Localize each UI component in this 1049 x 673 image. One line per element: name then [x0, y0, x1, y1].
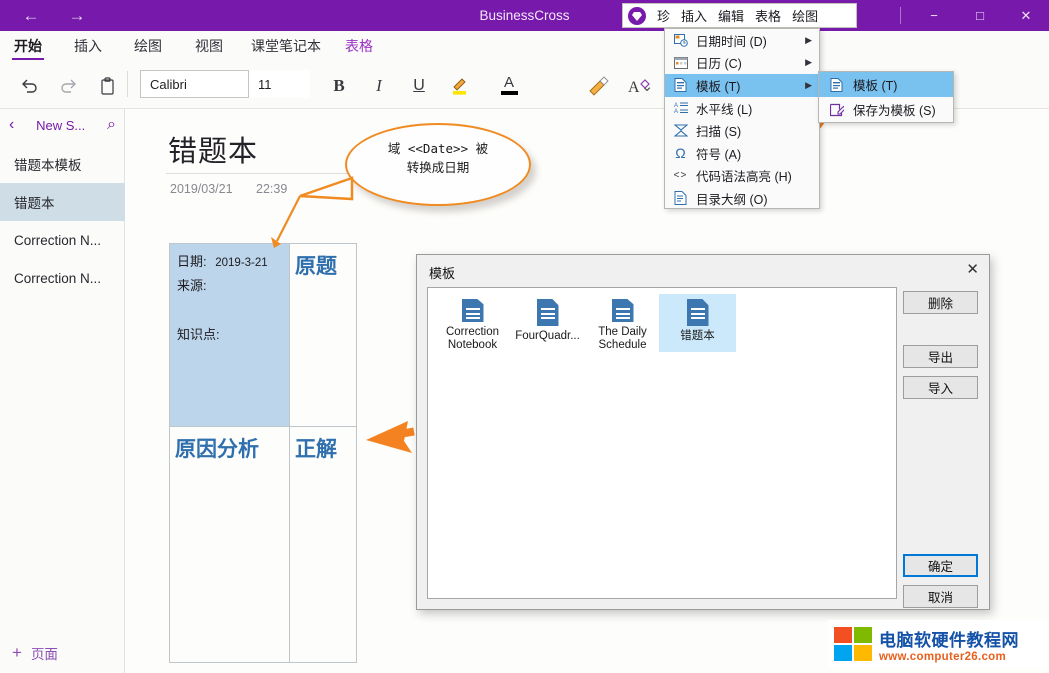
document-icon: [537, 299, 559, 326]
menu-item-label: 日期时间 (D): [696, 31, 767, 50]
undo-button[interactable]: [12, 62, 48, 109]
search-icon[interactable]: ⌕: [107, 116, 116, 134]
page-title[interactable]: 错题本: [168, 128, 258, 170]
menu-item-code-highlight[interactable]: <> 代码语法高亮 (H): [665, 165, 819, 188]
submenu-item-label: 模板 (T): [853, 75, 897, 94]
menu-item-outline[interactable]: 目录大纲 (O): [665, 187, 819, 210]
cell-heading-analysis: 原因分析: [170, 427, 289, 463]
document-icon: [462, 299, 484, 322]
titlebar-divider: [900, 7, 901, 24]
windows-logo-icon: [834, 627, 872, 661]
menu-item-label: 目录大纲 (O): [696, 189, 768, 208]
page-date[interactable]: 2019/03/21: [170, 182, 233, 196]
ok-button[interactable]: 确定: [903, 554, 978, 577]
font-size-input[interactable]: 11: [248, 70, 310, 98]
menu-item-horizontal-line[interactable]: AA 水平线 (L): [665, 97, 819, 120]
template-name: 错题本: [680, 330, 715, 343]
page-time[interactable]: 22:39: [256, 182, 287, 196]
sidebar-item-correction-1[interactable]: Correction N...: [0, 221, 125, 259]
redo-button[interactable]: [50, 62, 86, 109]
highlight-button[interactable]: [442, 62, 478, 109]
tab-view[interactable]: 视图: [191, 31, 227, 62]
template-item-fourquadrant[interactable]: FourQuadr...: [509, 294, 586, 352]
callout-text: 域 <<Date>> 被 转换成日期: [352, 139, 524, 177]
template-item-correction-notebook[interactable]: Correction Notebook: [434, 294, 511, 352]
meta-knowledge-label: 知识点:: [170, 324, 289, 343]
table-cell-analysis[interactable]: 原因分析: [170, 427, 290, 663]
sidebar-back-icon[interactable]: ‹: [9, 116, 14, 134]
template-item-cuotiben[interactable]: 错题本: [659, 294, 736, 352]
plus-icon: +: [12, 643, 22, 663]
chevron-right-icon: ▶: [805, 35, 812, 46]
floating-menu-bar: 珍 插入 编辑 表格 绘图: [622, 3, 857, 28]
font-color-button[interactable]: A: [490, 62, 528, 109]
import-button[interactable]: 导入: [903, 376, 978, 399]
template-icon: [828, 77, 845, 93]
save-template-icon: [828, 102, 845, 118]
menu-item-label: 代码语法高亮 (H): [696, 166, 792, 185]
template-dialog: 模板 ✕ Correction Notebook FourQuadr... Th…: [416, 254, 990, 610]
cancel-button[interactable]: 取消: [903, 585, 978, 608]
watermark-url: www.computer26.com: [879, 651, 1019, 663]
menu-item-label: 符号 (A): [696, 144, 741, 163]
italic-button[interactable]: I: [362, 62, 396, 109]
menubar-item-draw[interactable]: 绘图: [792, 6, 818, 25]
meta-source-label: 来源:: [170, 275, 289, 294]
tab-draw[interactable]: 绘图: [130, 31, 166, 62]
export-button[interactable]: 导出: [903, 345, 978, 368]
submenu-item-template[interactable]: 模板 (T): [819, 72, 953, 97]
horizontal-line-icon: AA: [672, 100, 689, 116]
svg-text:A: A: [674, 109, 678, 114]
dialog-close-icon[interactable]: ✕: [966, 260, 979, 278]
outline-icon: [672, 190, 689, 206]
scan-icon: [672, 122, 689, 138]
template-submenu: 模板 (T) 保存为模板 (S): [818, 71, 954, 123]
maximize-button[interactable]: □: [957, 0, 1003, 31]
menu-item-calendar[interactable]: 日历 (C) ▶: [665, 52, 819, 75]
underline-button[interactable]: U: [402, 62, 436, 109]
submenu-item-label: 保存为模板 (S): [853, 100, 936, 119]
menubar-item-zhen[interactable]: 珍: [657, 6, 670, 25]
meta-date-row: 日期: 2019-3-21: [170, 251, 289, 270]
submenu-item-save-as-template[interactable]: 保存为模板 (S): [819, 97, 953, 122]
meta-date-label: 日期:: [177, 254, 207, 269]
add-page-label: 页面: [31, 643, 58, 663]
cell-heading-original: 原题: [290, 244, 357, 280]
tab-classnotebook[interactable]: 课堂笔记本: [247, 31, 325, 62]
menu-item-scan[interactable]: 扫描 (S): [665, 119, 819, 142]
tab-home[interactable]: 开始: [10, 31, 46, 62]
clipboard-button[interactable]: [90, 62, 124, 109]
sidebar-item-cuotibenmoban[interactable]: 错题本模板: [0, 145, 125, 183]
bold-button[interactable]: B: [322, 62, 356, 109]
template-name: The Daily Schedule: [584, 326, 661, 352]
symbol-omega-icon: Ω: [672, 145, 689, 161]
template-name: Correction Notebook: [434, 326, 511, 352]
document-icon: [612, 299, 634, 322]
sidebar-header: ‹ New S... ⌕: [0, 109, 125, 141]
menu-item-label: 模板 (T): [696, 76, 740, 95]
menubar-item-insert[interactable]: 插入: [681, 6, 707, 25]
menu-item-label: 水平线 (L): [696, 99, 752, 118]
watermark-site-name: 电脑软硬件教程网: [879, 626, 1019, 651]
tab-table[interactable]: 表格: [341, 31, 377, 62]
date-time-icon: [672, 32, 689, 48]
chevron-right-icon: ▶: [805, 80, 812, 91]
table-cell-answer[interactable]: 正解: [290, 427, 357, 663]
note-table[interactable]: 日期: 2019-3-21 来源: 知识点: 原题 原因分析 正解: [169, 243, 357, 663]
sidebar-item-cuotiben[interactable]: 错题本: [0, 183, 125, 221]
chevron-right-icon: ▶: [805, 57, 812, 68]
menu-item-template[interactable]: 模板 (T) ▶: [665, 74, 819, 97]
template-item-daily-schedule[interactable]: The Daily Schedule: [584, 294, 661, 352]
menu-item-label: 日历 (C): [696, 53, 742, 72]
menubar-item-edit[interactable]: 编辑: [718, 6, 744, 25]
toolbar-divider: [127, 71, 128, 97]
menu-item-date-time[interactable]: 日期时间 (D) ▶: [665, 29, 819, 52]
meta-date-value: 2019-3-21: [215, 257, 267, 269]
gem-logo-icon[interactable]: [628, 7, 646, 25]
template-name: FourQuadr...: [515, 330, 580, 343]
menubar-item-table[interactable]: 表格: [755, 6, 781, 25]
template-list[interactable]: Correction Notebook FourQuadr... The Dai…: [427, 287, 897, 599]
minimize-button[interactable]: −: [911, 0, 957, 31]
app-title: BusinessCross: [0, 0, 1049, 31]
title-bar: ← → BusinessCross − □ ✕: [0, 0, 1049, 31]
ribbon-tab-strip: 开始 插入 绘图 视图 课堂笔记本 表格 9+ 共享 •••: [0, 31, 1049, 62]
table-cell-metadata[interactable]: 日期: 2019-3-21 来源: 知识点:: [170, 244, 290, 427]
code-icon: <>: [672, 168, 689, 184]
watermark: 电脑软硬件教程网 www.computer26.com: [828, 620, 1049, 668]
sidebar-section-title[interactable]: New S...: [36, 118, 85, 133]
delete-button[interactable]: 删除: [903, 291, 978, 314]
document-icon: [687, 299, 709, 326]
calendar-icon: [672, 55, 689, 71]
add-page-button[interactable]: + 页面: [0, 633, 125, 673]
sidebar-item-correction-2[interactable]: Correction N...: [0, 259, 125, 297]
page-sidebar: ‹ New S... ⌕ 错题本模板 错题本 Correction N... C…: [0, 109, 125, 673]
tab-insert[interactable]: 插入: [70, 31, 106, 62]
table-cell-original[interactable]: 原题: [290, 244, 357, 427]
cell-heading-answer: 正解: [290, 427, 357, 463]
template-icon: [672, 77, 689, 93]
menu-item-label: 扫描 (S): [696, 121, 741, 140]
toolbar-more-chevron[interactable]: ⌄: [630, 62, 664, 109]
format-painter-button[interactable]: [580, 62, 616, 109]
close-button[interactable]: ✕: [1003, 0, 1049, 31]
insert-dropdown-menu: 日期时间 (D) ▶ 日历 (C) ▶ 模板 (T) ▶ AA 水平线 (L) …: [664, 28, 820, 209]
menu-item-symbol[interactable]: Ω 符号 (A): [665, 142, 819, 165]
dialog-title: 模板: [429, 263, 455, 282]
